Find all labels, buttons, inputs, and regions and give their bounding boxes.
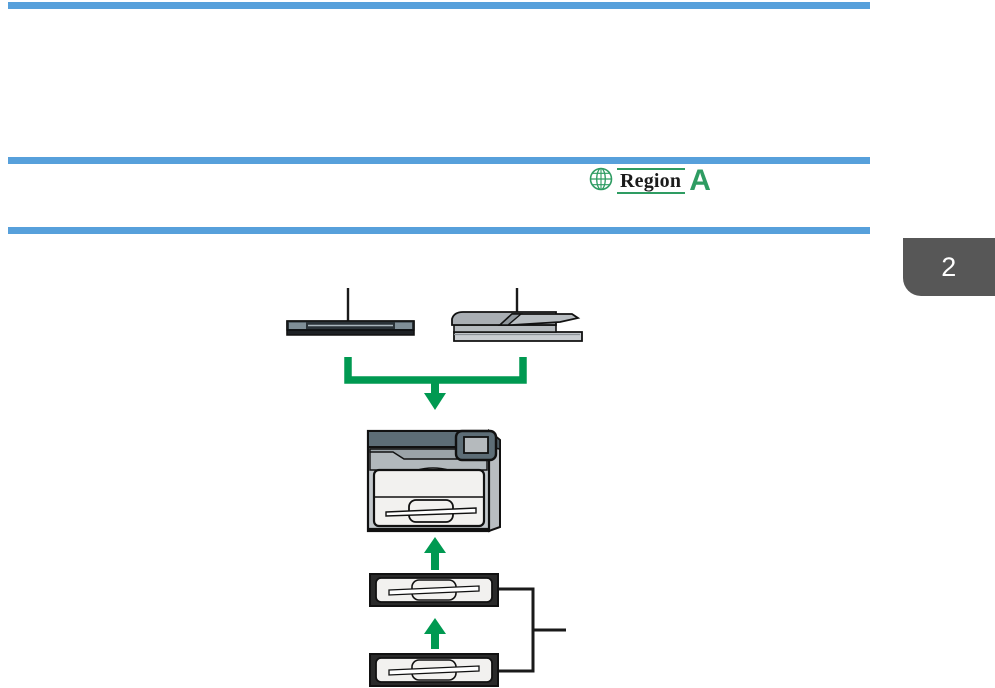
arrow-tray-to-printer xyxy=(424,537,446,570)
auto-document-feeder xyxy=(452,312,582,341)
option-merge-arrow xyxy=(348,357,523,410)
main-printer-unit xyxy=(368,431,500,531)
paper-feed-unit-lower xyxy=(370,654,498,686)
paper-feed-units-bracket xyxy=(499,589,566,671)
globe-icon xyxy=(588,166,614,197)
section-rule-lower xyxy=(8,227,870,234)
chapter-tab-number: 2 xyxy=(941,252,957,282)
region-letter: A xyxy=(689,166,711,196)
control-panel xyxy=(456,431,496,460)
arrow-lower-tray-to-upper-tray xyxy=(424,618,446,649)
printer-configuration-diagram xyxy=(0,0,995,688)
region-a-badge: Region A xyxy=(588,166,711,196)
paper-feed-unit-upper xyxy=(370,574,498,606)
section-rule-upper xyxy=(8,157,870,164)
exposure-glass-cover xyxy=(287,321,414,335)
region-label: Region xyxy=(617,168,685,194)
header-rule-top xyxy=(8,2,870,9)
chapter-tab: 2 xyxy=(903,238,995,296)
